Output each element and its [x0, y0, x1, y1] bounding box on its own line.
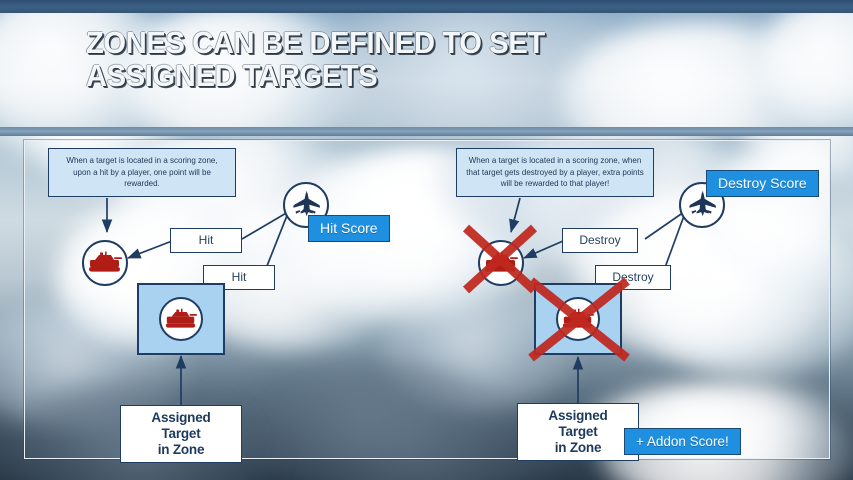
top-accent-strip [0, 0, 853, 13]
left-hit-label-upper: Hit [170, 228, 242, 253]
tank-target-icon [82, 240, 128, 286]
header-divider [0, 127, 853, 136]
destroy-score-badge[interactable]: Destroy Score [706, 170, 819, 197]
left-free-target[interactable] [82, 240, 128, 286]
left-zone-caption: Assigned Target in Zone [120, 405, 242, 463]
left-info-callout: When a target is located in a scoring zo… [48, 148, 236, 197]
zone-square [137, 283, 225, 355]
right-free-target[interactable] [478, 240, 524, 286]
slide-canvas: ZONES CAN BE DEFINED TO SET ASSIGNED TAR… [0, 0, 853, 480]
zone-square [534, 283, 622, 355]
tank-target-icon [556, 297, 600, 341]
addon-score-badge[interactable]: + Addon Score! [624, 428, 741, 455]
page-title: ZONES CAN BE DEFINED TO SET ASSIGNED TAR… [86, 26, 744, 92]
right-destroy-label-upper: Destroy [562, 228, 638, 253]
right-zone-caption: Assigned Target in Zone [517, 403, 639, 461]
left-zone-box[interactable] [137, 283, 225, 355]
right-info-callout: When a target is located in a scoring zo… [456, 148, 654, 197]
hit-score-badge[interactable]: Hit Score [308, 215, 390, 242]
tank-target-icon [478, 240, 524, 286]
right-zone-box[interactable] [534, 283, 622, 355]
tank-target-icon [159, 297, 203, 341]
